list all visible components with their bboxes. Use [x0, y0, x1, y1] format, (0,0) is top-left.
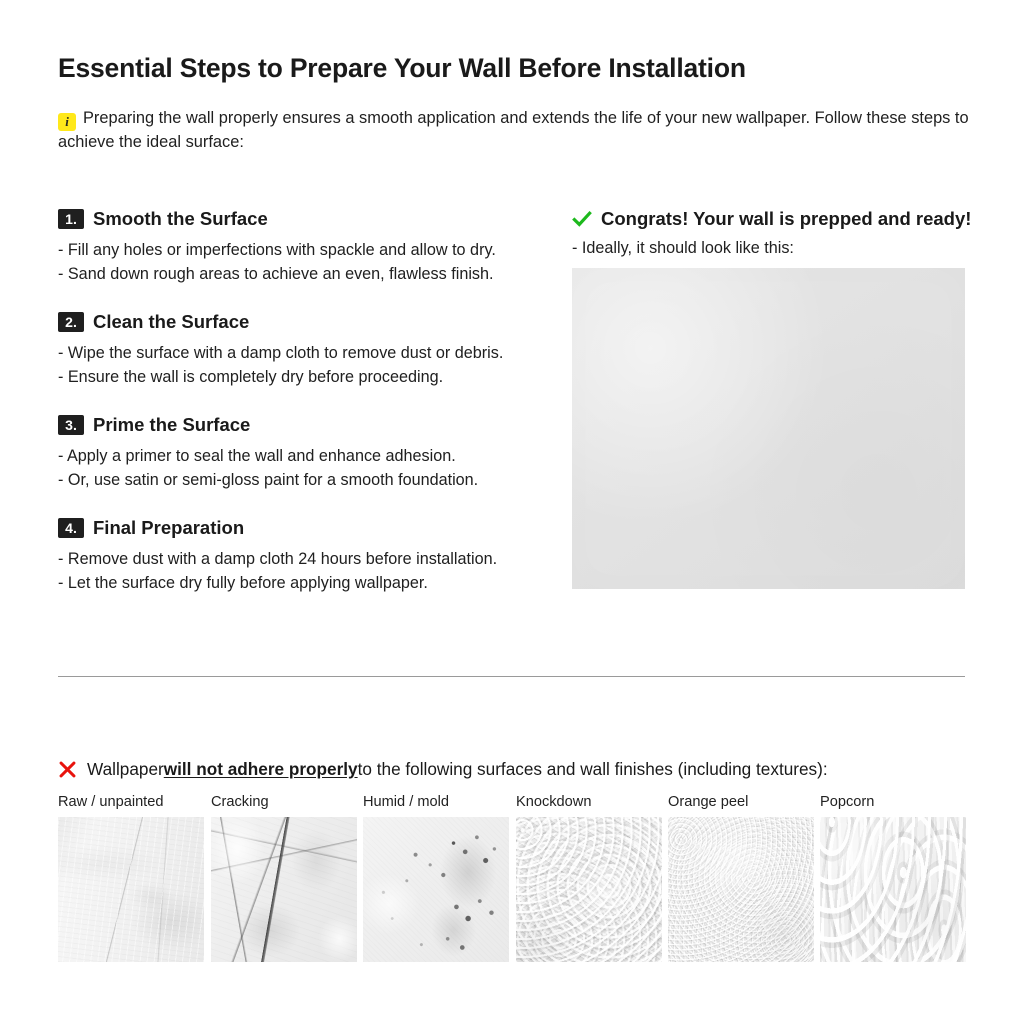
step-heading: Smooth the Surface: [93, 208, 268, 230]
step-detail-line: - Remove dust with a damp cloth 24 hours…: [58, 547, 538, 571]
wallpaper-prep-guide-page: Essential Steps to Prepare Your Wall Bef…: [0, 0, 1024, 1024]
step-detail-lines: - Apply a primer to seal the wall and en…: [58, 444, 538, 492]
texture-thumbnail-image: [516, 817, 662, 962]
texture-thumbnail-image: [58, 817, 204, 962]
texture-item-cracking: Cracking: [211, 793, 357, 962]
step-heading-row: 3. Prime the Surface: [58, 414, 538, 436]
step-heading: Prime the Surface: [93, 414, 250, 436]
step-detail-lines: - Wipe the surface with a damp cloth to …: [58, 341, 538, 389]
prepped-wall-preview-image: [572, 268, 965, 589]
intro-paragraph: iPreparing the wall properly ensures a s…: [58, 106, 973, 154]
texture-thumbnail-row: Raw / unpainted Cracking Humid / mold Kn…: [58, 793, 978, 968]
texture-item-popcorn: Popcorn: [820, 793, 966, 962]
step-detail-lines: - Remove dust with a damp cloth 24 hours…: [58, 547, 538, 595]
step-item: 4. Final Preparation - Remove dust with …: [58, 517, 538, 595]
texture-label: Cracking: [211, 793, 357, 811]
step-detail-line: - Or, use satin or semi-gloss paint for …: [58, 468, 538, 492]
step-detail-line: - Ensure the wall is completely dry befo…: [58, 365, 538, 389]
page-title: Essential Steps to Prepare Your Wall Bef…: [58, 53, 746, 84]
texture-item-orange-peel: Orange peel: [668, 793, 814, 962]
steps-list: 1. Smooth the Surface - Fill any holes o…: [58, 208, 538, 595]
step-detail-line: - Wipe the surface with a damp cloth to …: [58, 341, 538, 365]
step-heading: Final Preparation: [93, 517, 244, 539]
texture-item-raw-unpainted: Raw / unpainted: [58, 793, 204, 962]
texture-label: Knockdown: [516, 793, 662, 811]
step-heading-row: 1. Smooth the Surface: [58, 208, 538, 230]
texture-label: Humid / mold: [363, 793, 509, 811]
step-heading-row: 2. Clean the Surface: [58, 311, 538, 333]
step-detail-lines: - Fill any holes or imperfections with s…: [58, 238, 538, 286]
info-icon: i: [58, 113, 76, 131]
step-item: 3. Prime the Surface - Apply a primer to…: [58, 414, 538, 492]
check-icon: [572, 209, 592, 229]
step-number-badge: 1.: [58, 209, 84, 229]
step-number-badge: 2.: [58, 312, 84, 332]
warning-emphasis: will not adhere properly: [164, 757, 358, 781]
step-heading: Clean the Surface: [93, 311, 249, 333]
warning-text-after: to the following surfaces and wall finis…: [358, 757, 828, 781]
texture-label: Popcorn: [820, 793, 966, 811]
success-heading-row: Congrats! Your wall is prepped and ready…: [572, 208, 972, 230]
warning-heading-row: Wallpaper will not adhere properly to th…: [58, 757, 828, 781]
success-column: Congrats! Your wall is prepped and ready…: [572, 208, 972, 260]
section-divider: [58, 676, 965, 677]
texture-label: Raw / unpainted: [58, 793, 204, 811]
success-subtext: - Ideally, it should look like this:: [572, 236, 972, 260]
intro-text: Preparing the wall properly ensures a sm…: [58, 109, 969, 151]
texture-thumbnail-image: [211, 817, 357, 962]
texture-label: Orange peel: [668, 793, 814, 811]
step-heading-row: 4. Final Preparation: [58, 517, 538, 539]
step-detail-line: - Sand down rough areas to achieve an ev…: [58, 262, 538, 286]
texture-thumbnail-image: [820, 817, 966, 962]
step-detail-line: - Apply a primer to seal the wall and en…: [58, 444, 538, 468]
step-detail-line: - Fill any holes or imperfections with s…: [58, 238, 538, 262]
texture-thumbnail-image: [668, 817, 814, 962]
texture-item-knockdown: Knockdown: [516, 793, 662, 962]
step-item: 1. Smooth the Surface - Fill any holes o…: [58, 208, 538, 286]
step-item: 2. Clean the Surface - Wipe the surface …: [58, 311, 538, 389]
texture-thumbnail-image: [363, 817, 509, 962]
step-number-badge: 4.: [58, 518, 84, 538]
step-detail-line: - Let the surface dry fully before apply…: [58, 571, 538, 595]
success-heading: Congrats! Your wall is prepped and ready…: [601, 208, 971, 230]
x-icon: [58, 760, 77, 779]
warning-text-before: Wallpaper: [87, 757, 164, 781]
step-number-badge: 3.: [58, 415, 84, 435]
texture-item-humid-mold: Humid / mold: [363, 793, 509, 962]
